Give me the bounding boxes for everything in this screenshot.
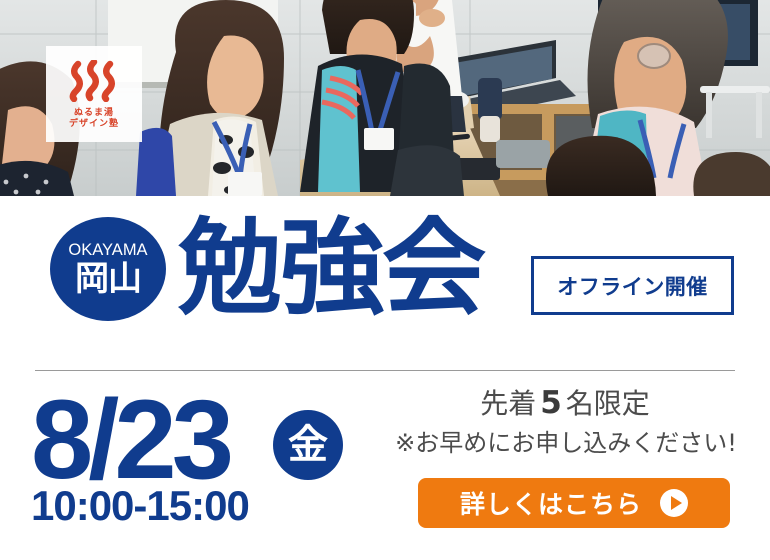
okayama-badge: OKAYAMA 岡山 — [50, 217, 166, 321]
cta-block: 先着5名限定 ※お早めにお申し込みください! 詳しくはこちら — [390, 386, 770, 546]
capacity-note: ※お早めにお申し込みください! — [390, 430, 742, 456]
capacity-line: 先着5名限定 — [390, 388, 740, 419]
capacity-prefix: 先着 — [480, 387, 536, 420]
brand-name-line1: ぬるま湯 — [69, 107, 119, 118]
event-banner: ぬるま湯 デザイン塾 OKAYAMA 岡山 勉強会 オフライン開催 8/23 金… — [0, 0, 770, 560]
capacity-suffix: 名限定 — [566, 387, 650, 420]
onsen-steam-icon — [67, 60, 121, 102]
event-date: 8/23 — [31, 384, 229, 496]
format-badge-label: オフライン開催 — [557, 271, 708, 301]
brand-name-line2: デザイン塾 — [69, 118, 119, 129]
okayama-badge-jp: 岡山 — [75, 262, 141, 296]
play-arrow-icon — [660, 489, 688, 517]
hero-photo: ぬるま湯 デザイン塾 — [0, 0, 770, 196]
capacity-count: 5 — [536, 385, 566, 421]
weekday-badge: 金 — [273, 410, 343, 480]
format-badge: オフライン開催 — [531, 256, 734, 315]
schedule-block: 8/23 金 10:00-15:00 — [0, 378, 380, 548]
section-divider — [35, 370, 735, 371]
brand-logo: ぬるま湯 デザイン塾 — [46, 46, 142, 142]
event-time: 10:00-15:00 — [31, 485, 249, 527]
okayama-badge-en: OKAYAMA — [68, 242, 147, 259]
weekday-badge-label: 金 — [288, 425, 328, 465]
details-button-label: 詳しくはこちら — [460, 485, 642, 521]
page-title: 勉強会 — [178, 216, 484, 320]
details-button[interactable]: 詳しくはこちら — [418, 478, 730, 528]
